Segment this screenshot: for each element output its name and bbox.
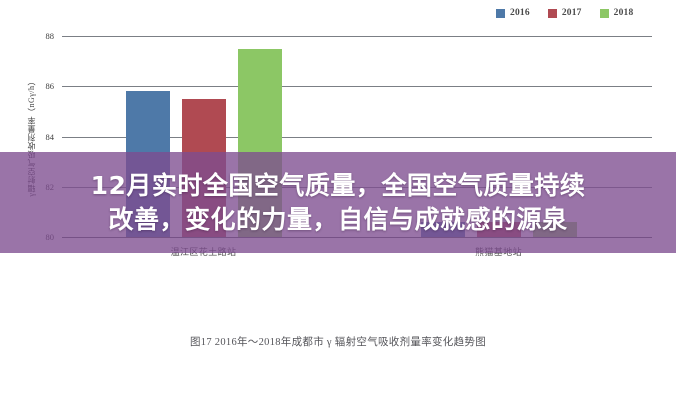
legend-label-2017: 2017 <box>562 8 582 18</box>
y-tick-label-82: 82 <box>46 182 55 192</box>
bar-2017-group2 <box>477 222 521 237</box>
legend-item-2016: 2016 <box>496 8 530 18</box>
chart-figure: 2016 2017 2018 γ辐射空气吸收剂量率（nGγ/h） 8886848… <box>0 0 676 400</box>
y-tick-label-88: 88 <box>46 31 55 41</box>
legend-swatch-2016 <box>496 9 505 18</box>
y-axis-ticks: 8886848280 <box>0 36 58 237</box>
legend-label-2018: 2018 <box>614 8 634 18</box>
bar-2016-group2 <box>421 222 465 237</box>
y-tick-label-80: 80 <box>46 232 55 242</box>
legend-item-2017: 2017 <box>548 8 582 18</box>
x-axis-label-1: 温江区花土路站 <box>171 245 237 258</box>
legend-item-2018: 2018 <box>600 8 634 18</box>
bar-2017-group1 <box>182 99 226 237</box>
figure-caption: 图17 2016年～2018年成都市 γ 辐射空气吸收剂量率变化趋势图 <box>0 334 676 349</box>
bar-2016-group1 <box>126 91 170 237</box>
bar-2018-group1 <box>238 49 282 237</box>
gridline-80 <box>62 237 652 238</box>
bar-2018-group2 <box>533 222 577 237</box>
legend-swatch-2017 <box>548 9 557 18</box>
plot-area <box>62 36 652 237</box>
legend-swatch-2018 <box>600 9 609 18</box>
x-axis-label-2: 熊猫基地站 <box>475 245 522 258</box>
gridline-88 <box>62 36 652 37</box>
y-tick-label-84: 84 <box>46 132 55 142</box>
chart-legend: 2016 2017 2018 <box>496 8 633 18</box>
y-tick-label-86: 86 <box>46 81 55 91</box>
gridline-86 <box>62 86 652 87</box>
legend-label-2016: 2016 <box>510 8 530 18</box>
